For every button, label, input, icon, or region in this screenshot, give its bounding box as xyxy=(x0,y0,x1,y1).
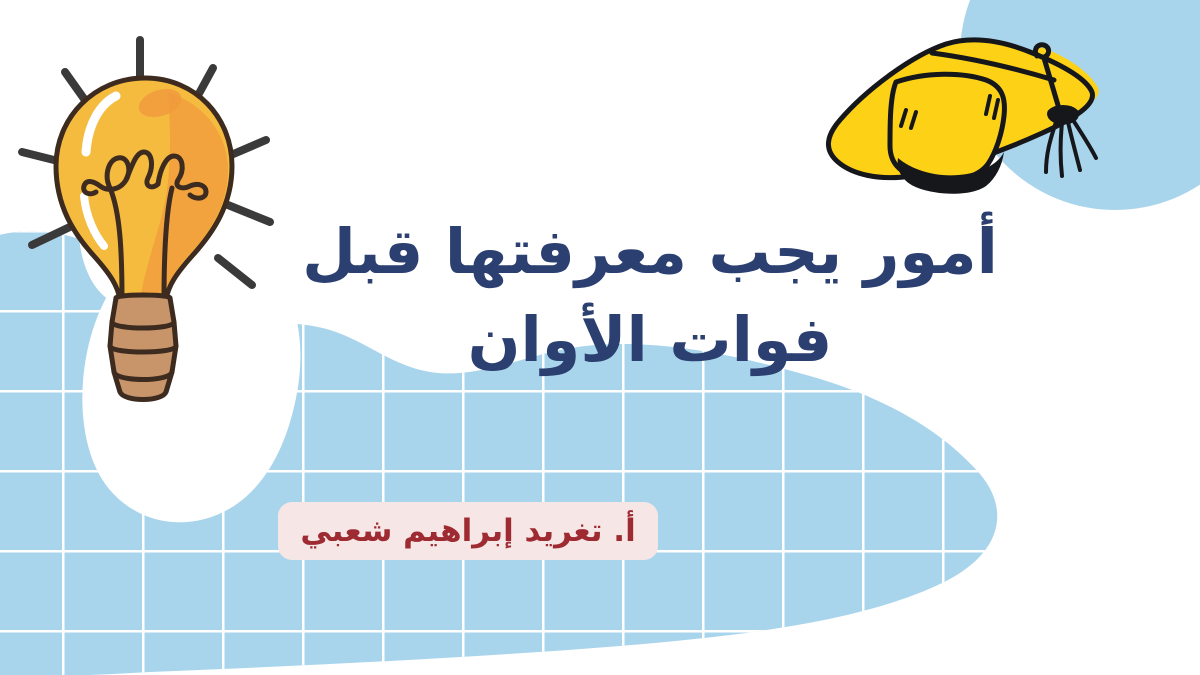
page-title: أمور يجب معرفتها قبل فوات الأوان xyxy=(270,208,1030,384)
title-line-1: أمور يجب معرفتها قبل xyxy=(270,208,1030,296)
presentation-slide: أمور يجب معرفتها قبل فوات الأوان أ. تغري… xyxy=(0,0,1200,675)
author-badge: أ. تغريد إبراهيم شعبي xyxy=(278,502,658,560)
author-name: أ. تغريد إبراهيم شعبي xyxy=(300,516,635,547)
slide-text-content: أمور يجب معرفتها قبل فوات الأوان أ. تغري… xyxy=(0,0,1200,675)
title-line-2: فوات الأوان xyxy=(270,296,1030,384)
